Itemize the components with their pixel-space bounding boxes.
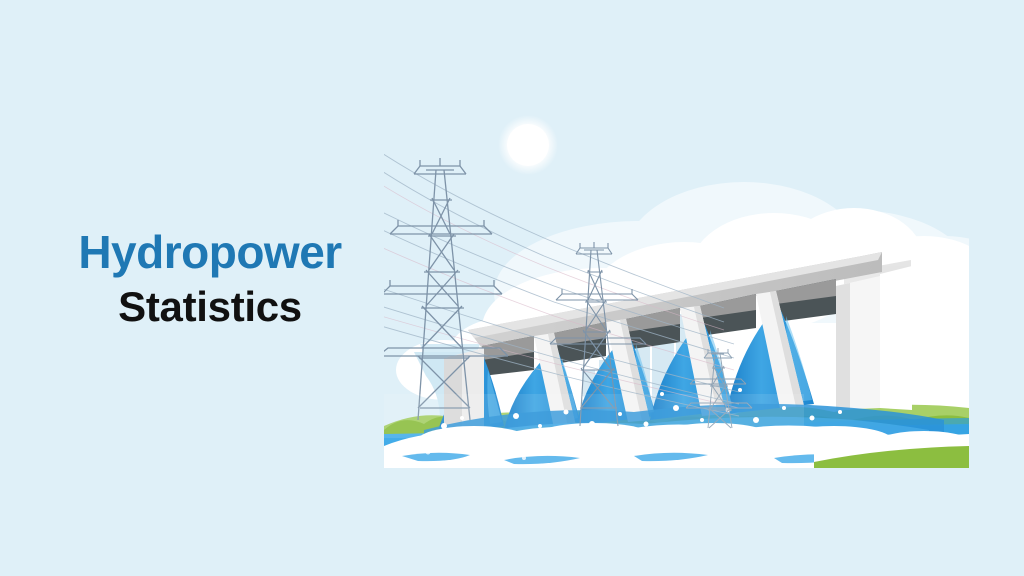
title-line-secondary: Statistics [40, 284, 380, 329]
page-title: Hydropower Statistics [40, 228, 380, 329]
dam-right-wall-front-shade [836, 283, 850, 410]
illustration-canvas [384, 108, 969, 468]
banner-root: Hydropower Statistics [0, 0, 1024, 576]
dam-right-outer [880, 266, 912, 410]
atmosphere-haze [384, 394, 804, 438]
hydropower-dam-illustration [384, 108, 969, 468]
sun-core [507, 124, 549, 166]
title-line-primary: Hydropower [40, 228, 380, 278]
